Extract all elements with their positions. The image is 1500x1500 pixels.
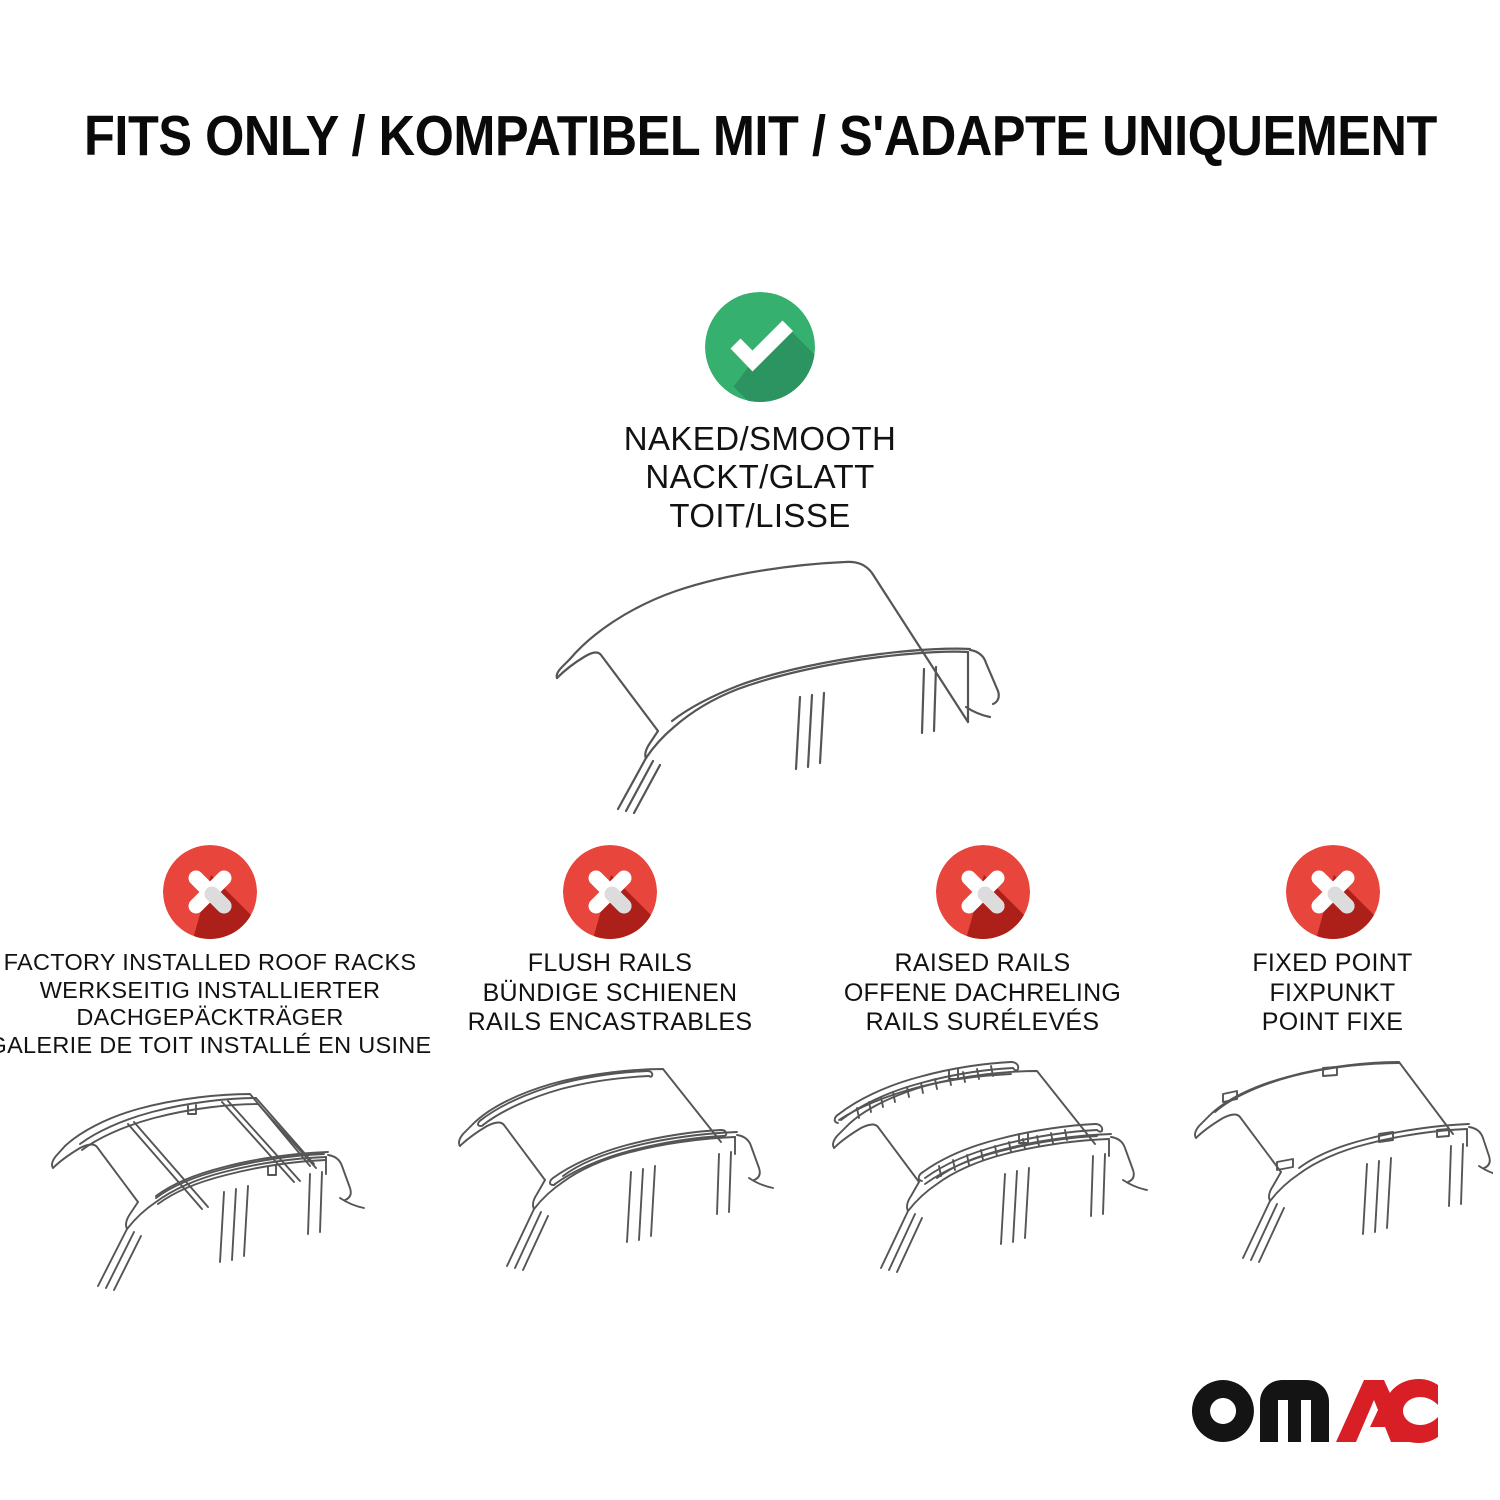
label-line-3: RAILS ENCASTRABLES <box>468 1008 753 1038</box>
x-circle-icon <box>563 845 657 939</box>
incompatible-roof-row: FACTORY INSTALLED ROOF RACKS WERKSEITIG … <box>0 845 1500 1314</box>
label-line-1: FACTORY INSTALLED ROOF RACKS <box>0 949 432 977</box>
incompatible-item-fixed-point: FIXED POINT FIXPUNKT POINT FIXE <box>1165 845 1500 1314</box>
label-line-3: RAILS SURÉLEVÉS <box>844 1008 1121 1038</box>
label-line-1: RAISED RAILS <box>844 949 1121 979</box>
label-line-1: FLUSH RAILS <box>468 949 753 979</box>
flush-rails-illustration <box>425 1052 795 1292</box>
logo-letter-o <box>1192 1380 1254 1442</box>
logo-letter-m <box>1260 1380 1329 1442</box>
fixed-point-illustration <box>1173 1052 1493 1292</box>
omac-logo <box>1188 1376 1438 1448</box>
x-circle-icon <box>936 845 1030 939</box>
compatible-roof-label-line-2: NACKT/GLATT <box>500 458 1020 496</box>
page-title: FITS ONLY / KOMPATIBEL MIT / S'ADAPTE UN… <box>84 108 1270 165</box>
x-circle-icon <box>1286 845 1380 939</box>
incompatible-item-factory-installed-roof-racks: FACTORY INSTALLED ROOF RACKS WERKSEITIG … <box>0 845 420 1314</box>
label-line-1: FIXED POINT <box>1252 949 1412 979</box>
label-line-3: DACHGEPÄCKTRÄGER <box>0 1004 432 1032</box>
incompatible-label-flush-rails: FLUSH RAILS BÜNDIGE SCHIENEN RAILS ENCAS… <box>468 949 753 1038</box>
bare-smooth-roof-illustration <box>500 547 1020 827</box>
compatible-roof-label: NAKED/SMOOTH NACKT/GLATT TOIT/LISSE <box>500 420 1020 535</box>
label-line-2: OFFENE DACHRELING <box>844 979 1121 1009</box>
check-circle-icon <box>705 292 815 402</box>
compatible-roof-block: NAKED/SMOOTH NACKT/GLATT TOIT/LISSE <box>500 292 1020 827</box>
incompatible-label-fixed-point: FIXED POINT FIXPUNKT POINT FIXE <box>1252 949 1412 1038</box>
label-line-2: BÜNDIGE SCHIENEN <box>468 979 753 1009</box>
incompatible-label-factory-installed-roof-racks: FACTORY INSTALLED ROOF RACKS WERKSEITIG … <box>0 949 432 1060</box>
compatible-roof-label-line-3: TOIT/LISSE <box>500 497 1020 535</box>
roof-racks-illustration <box>10 1074 410 1314</box>
compatible-roof-label-line-1: NAKED/SMOOTH <box>500 420 1020 458</box>
label-line-3: POINT FIXE <box>1252 1008 1412 1038</box>
raised-rails-illustration <box>803 1052 1163 1292</box>
label-line-2: WERKSEITIG INSTALLIERTER <box>0 977 432 1005</box>
label-line-2: FIXPUNKT <box>1252 979 1412 1009</box>
x-circle-icon <box>163 845 257 939</box>
label-line-4: GALERIE DE TOIT INSTALLÉ EN USINE <box>0 1032 432 1060</box>
incompatible-label-raised-rails: RAISED RAILS OFFENE DACHRELING RAILS SUR… <box>844 949 1121 1038</box>
incompatible-item-flush-rails: FLUSH RAILS BÜNDIGE SCHIENEN RAILS ENCAS… <box>420 845 800 1314</box>
incompatible-item-raised-rails: RAISED RAILS OFFENE DACHRELING RAILS SUR… <box>800 845 1165 1314</box>
